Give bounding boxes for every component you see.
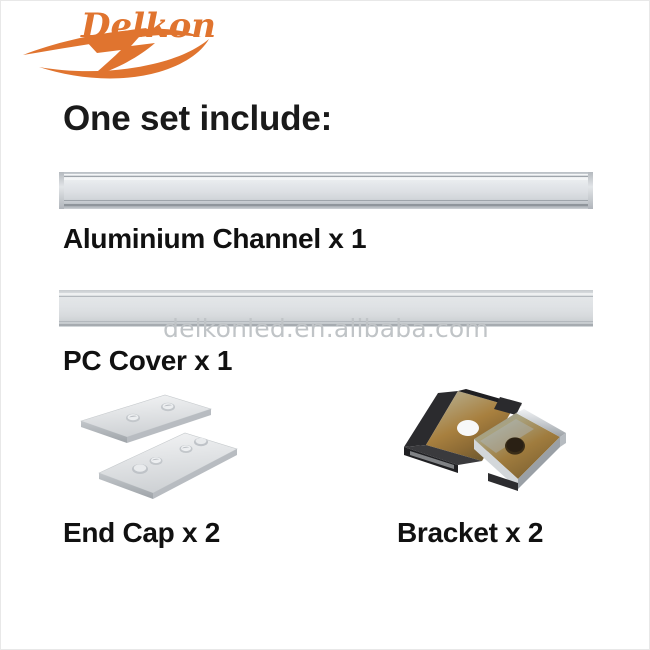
channel-shadow-bottom — [59, 204, 593, 206]
cover-edge-top — [59, 296, 593, 297]
end-cap-svg — [61, 387, 261, 511]
channel-groove-top — [59, 176, 593, 177]
channel-highlight-upper — [59, 178, 593, 180]
channel-highlight-top — [59, 174, 593, 175]
delkon-logo-svg: Delkon — [19, 7, 219, 91]
channel-end-left — [59, 172, 64, 209]
site-watermark: delkonled.en.alibaba.com — [1, 314, 650, 343]
page-title: One set include: — [63, 99, 332, 139]
bracket-image — [396, 387, 571, 511]
pc-cover-label: PC Cover x 1 — [63, 345, 232, 377]
bracket-label: Bracket x 2 — [397, 517, 543, 549]
aluminium-channel-image — [59, 172, 593, 209]
brand-logo: Delkon — [19, 7, 219, 91]
end-cap-image — [61, 387, 261, 511]
brand-wordmark: Delkon — [80, 7, 216, 46]
bracket-svg — [396, 387, 571, 511]
end-cap-plate-lower — [99, 433, 237, 499]
product-spec-image: Delkon One set include: Aluminium Channe… — [0, 0, 650, 650]
channel-end-right — [588, 172, 593, 209]
aluminium-channel-label: Aluminium Channel x 1 — [63, 223, 366, 255]
channel-groove-lower — [59, 200, 593, 201]
end-cap-label: End Cap x 2 — [63, 517, 220, 549]
cover-highlight-top — [59, 293, 593, 295]
